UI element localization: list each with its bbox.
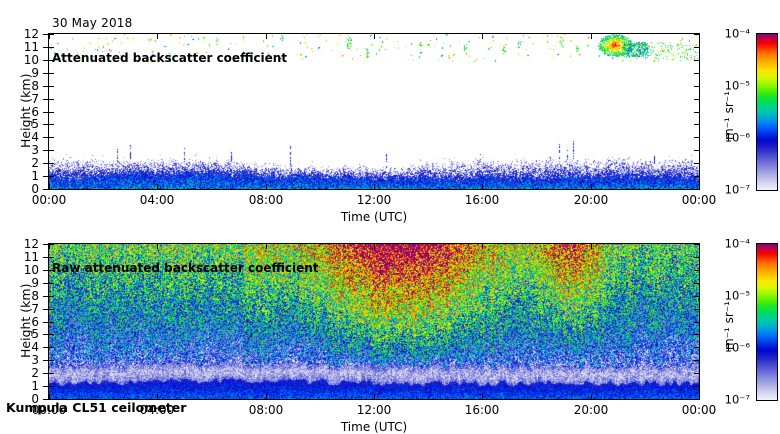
colorbar-tick-label: 10⁻⁷ [700, 184, 750, 196]
x-tick-label: 20:00 [574, 193, 609, 207]
y-tick-label: 0 [0, 183, 39, 195]
y-tick-label: 6 [0, 106, 39, 118]
colorbar-gradient-bottom [756, 243, 778, 401]
colorbar-gradient-top [756, 33, 778, 191]
colorbar-tick-label: 10⁻⁶ [700, 342, 750, 354]
x-tick-label: 08:00 [249, 403, 284, 417]
colorbar-axis-title: m⁻¹ sr⁻¹ [722, 91, 736, 140]
x-tick-label: 04:00 [140, 193, 175, 207]
y-tick-label: 5 [0, 328, 39, 340]
y-axis-title: Height (km) [18, 73, 33, 147]
y-tick-label: 4 [0, 131, 39, 143]
colorbar-tick-label: 10⁻⁷ [700, 394, 750, 406]
y-tick-label: 12 [0, 28, 39, 40]
x-tick-label: 16:00 [465, 403, 500, 417]
colorbar-top [756, 33, 778, 191]
y-tick-label: 2 [0, 367, 39, 379]
x-tick-label: 08:00 [249, 193, 284, 207]
colorbar-tick-label: 10⁻⁵ [700, 290, 750, 302]
y-tick-label: 1 [0, 170, 39, 182]
x-tick-label: 20:00 [574, 403, 609, 417]
x-tick-label: 00:00 [32, 193, 67, 207]
y-tick-label: 9 [0, 67, 39, 79]
y-tick-label: 11 [0, 251, 39, 263]
x-tick-label: 12:00 [357, 403, 392, 417]
y-tick-label: 12 [0, 238, 39, 250]
x-tick-label: 00:00 [682, 403, 717, 417]
y-tick-label: 3 [0, 144, 39, 156]
x-tick-label: 00:00 [682, 193, 717, 207]
y-tick-label: 7 [0, 303, 39, 315]
y-tick-label: 8 [0, 290, 39, 302]
x-tick-label: 16:00 [465, 193, 500, 207]
y-tick-label: 1 [0, 380, 39, 392]
x-tick-label: 12:00 [357, 193, 392, 207]
y-tick-label: 11 [0, 41, 39, 53]
y-tick-label: 7 [0, 93, 39, 105]
y-tick-label: 5 [0, 118, 39, 130]
colorbar-tick-label: 10⁻⁶ [700, 132, 750, 144]
y-tick-label: 3 [0, 354, 39, 366]
x-axis-title: Time (UTC) [341, 210, 407, 224]
y-tick-label: 2 [0, 157, 39, 169]
date-label: 30 May 2018 [52, 16, 132, 30]
y-tick-label: 4 [0, 341, 39, 353]
y-tick-label: 6 [0, 316, 39, 328]
y-axis-title: Height (km) [18, 283, 33, 357]
plot-panel-attenuated-backscatter: Attenuated backscatter coefficient [48, 33, 700, 190]
colorbar-tick-label: 10⁻⁴ [700, 28, 750, 40]
x-axis-title: Time (UTC) [341, 420, 407, 434]
panel-title-top: Attenuated backscatter coefficient [52, 51, 287, 65]
y-tick-label: 10 [0, 54, 39, 66]
station-label: Kumpula CL51 ceilometer [6, 400, 186, 415]
y-tick-label: 8 [0, 80, 39, 92]
colorbar-axis-title: m⁻¹ sr⁻¹ [722, 301, 736, 350]
panel-title-bottom: Raw attenuated backscatter coefficient [52, 261, 319, 275]
colorbar-tick-label: 10⁻⁵ [700, 80, 750, 92]
colorbar-bottom [756, 243, 778, 401]
y-tick-label: 9 [0, 277, 39, 289]
y-tick-label: 10 [0, 264, 39, 276]
plot-panel-raw-backscatter: Raw attenuated backscatter coefficient [48, 243, 700, 400]
colorbar-tick-label: 10⁻⁴ [700, 238, 750, 250]
